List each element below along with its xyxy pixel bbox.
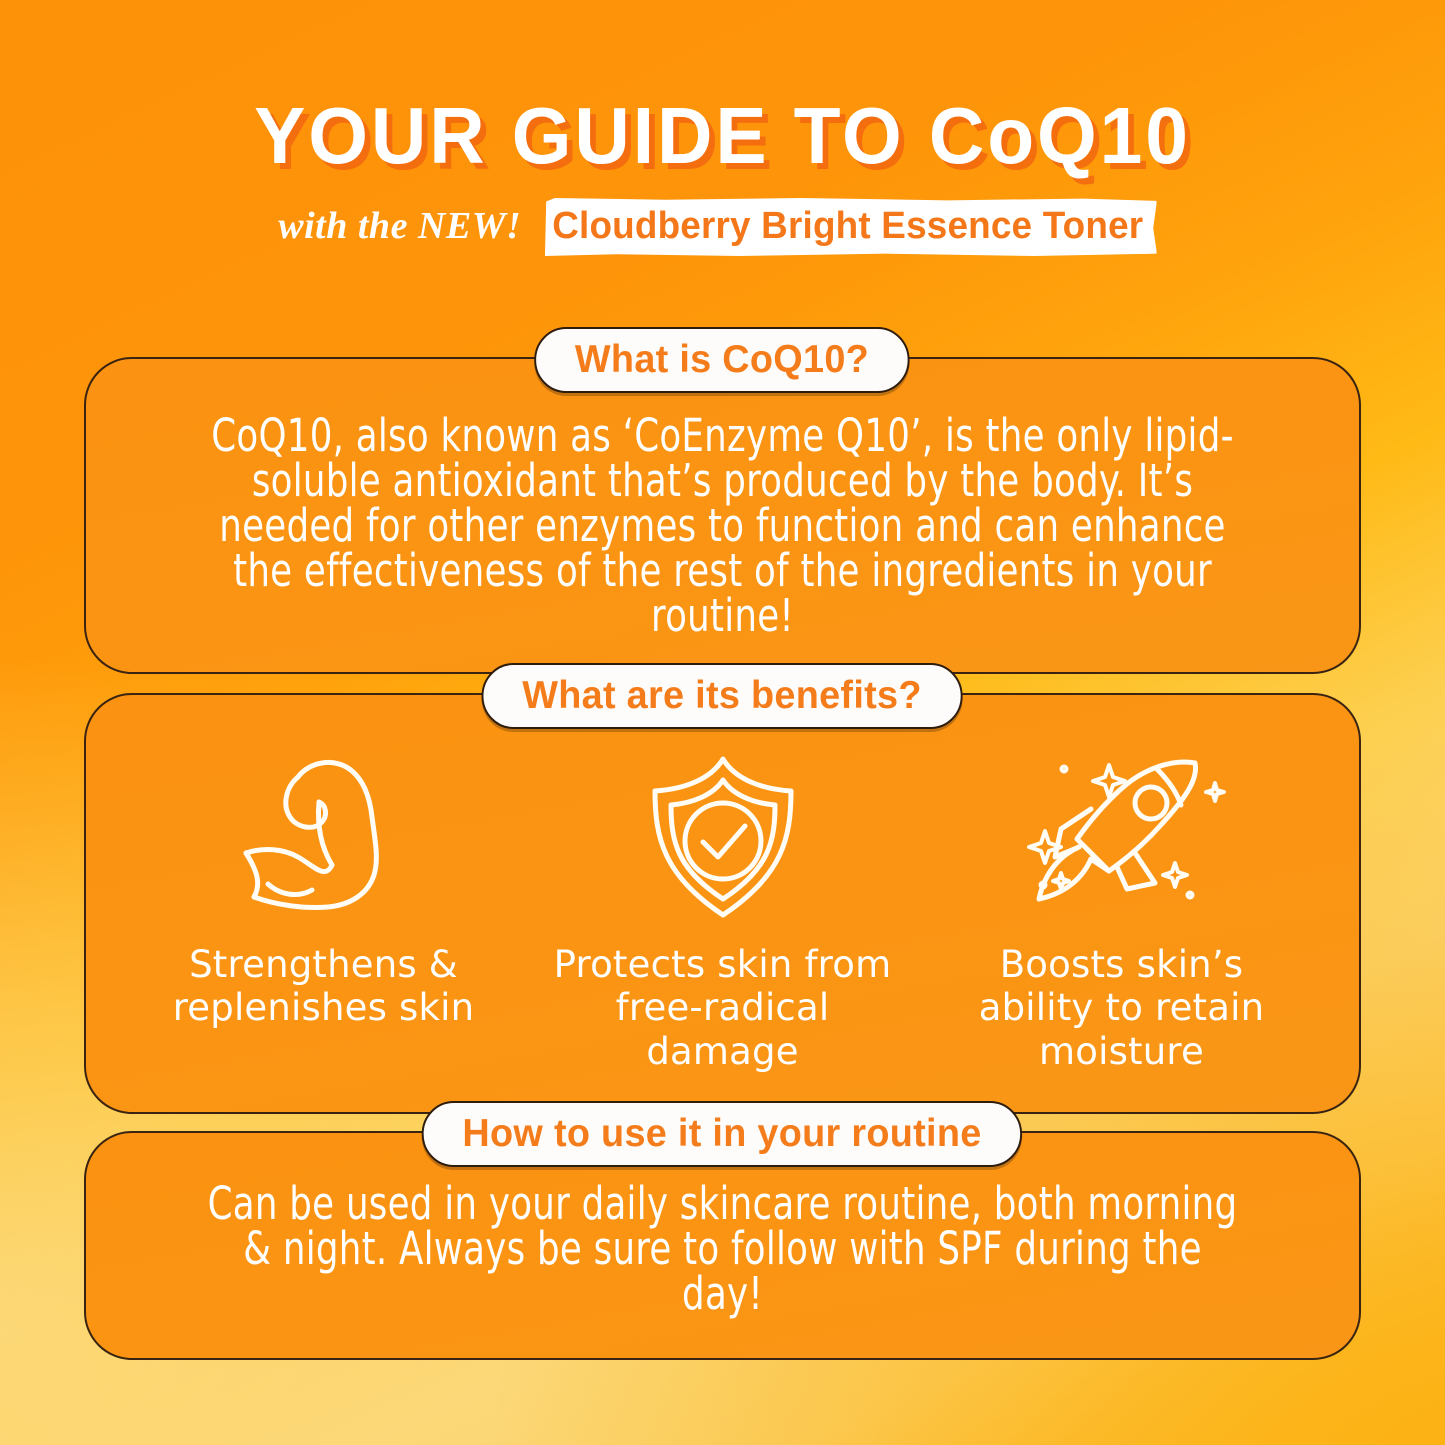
shield-check-icon [633,747,813,927]
benefit-caption: Boosts skin’s ability to retain moisture [947,943,1297,1073]
badge-how-to-use: How to use it in your routine [422,1101,1023,1167]
benefit-item: Protects skin from free-radical damage [548,747,898,1073]
poster-header: YOUR GUIDE TO CoQ10 with the NEW! Cloudb… [0,96,1445,256]
benefits-grid: Strengthens & replenishes skin Protects … [124,747,1321,1073]
benefit-item: Boosts skin’s ability to retain moisture [947,747,1297,1073]
benefit-caption: Protects skin from free-radical damage [548,943,898,1073]
badge-benefits: What are its benefits? [482,663,963,729]
card-what-is-coq10: CoQ10, also known as ‘CoEnzyme Q10’, is … [84,357,1361,674]
infographic-poster: YOUR GUIDE TO CoQ10 with the NEW! Cloudb… [0,0,1445,1445]
how-to-use-body: Can be used in your daily skincare routi… [206,1181,1238,1316]
flexed-bicep-icon [224,747,424,927]
subtitle-highlight: Cloudberry Bright Essence Toner [543,198,1157,256]
what-is-coq10-body: CoQ10, also known as ‘CoEnzyme Q10’, is … [206,413,1238,638]
subtitle-prefix: with the NEW! [278,204,533,248]
benefit-caption: Strengthens & replenishes skin [149,943,499,1030]
subtitle-row: with the NEW! Cloudberry Bright Essence … [0,198,1445,256]
card-benefits: Strengthens & replenishes skin Protects … [84,693,1361,1114]
benefit-item: Strengthens & replenishes skin [149,747,499,1030]
rocket-icon [1017,747,1227,927]
page-title: YOUR GUIDE TO CoQ10 [29,96,1416,176]
badge-what-is-coq10: What is CoQ10? [534,327,910,393]
